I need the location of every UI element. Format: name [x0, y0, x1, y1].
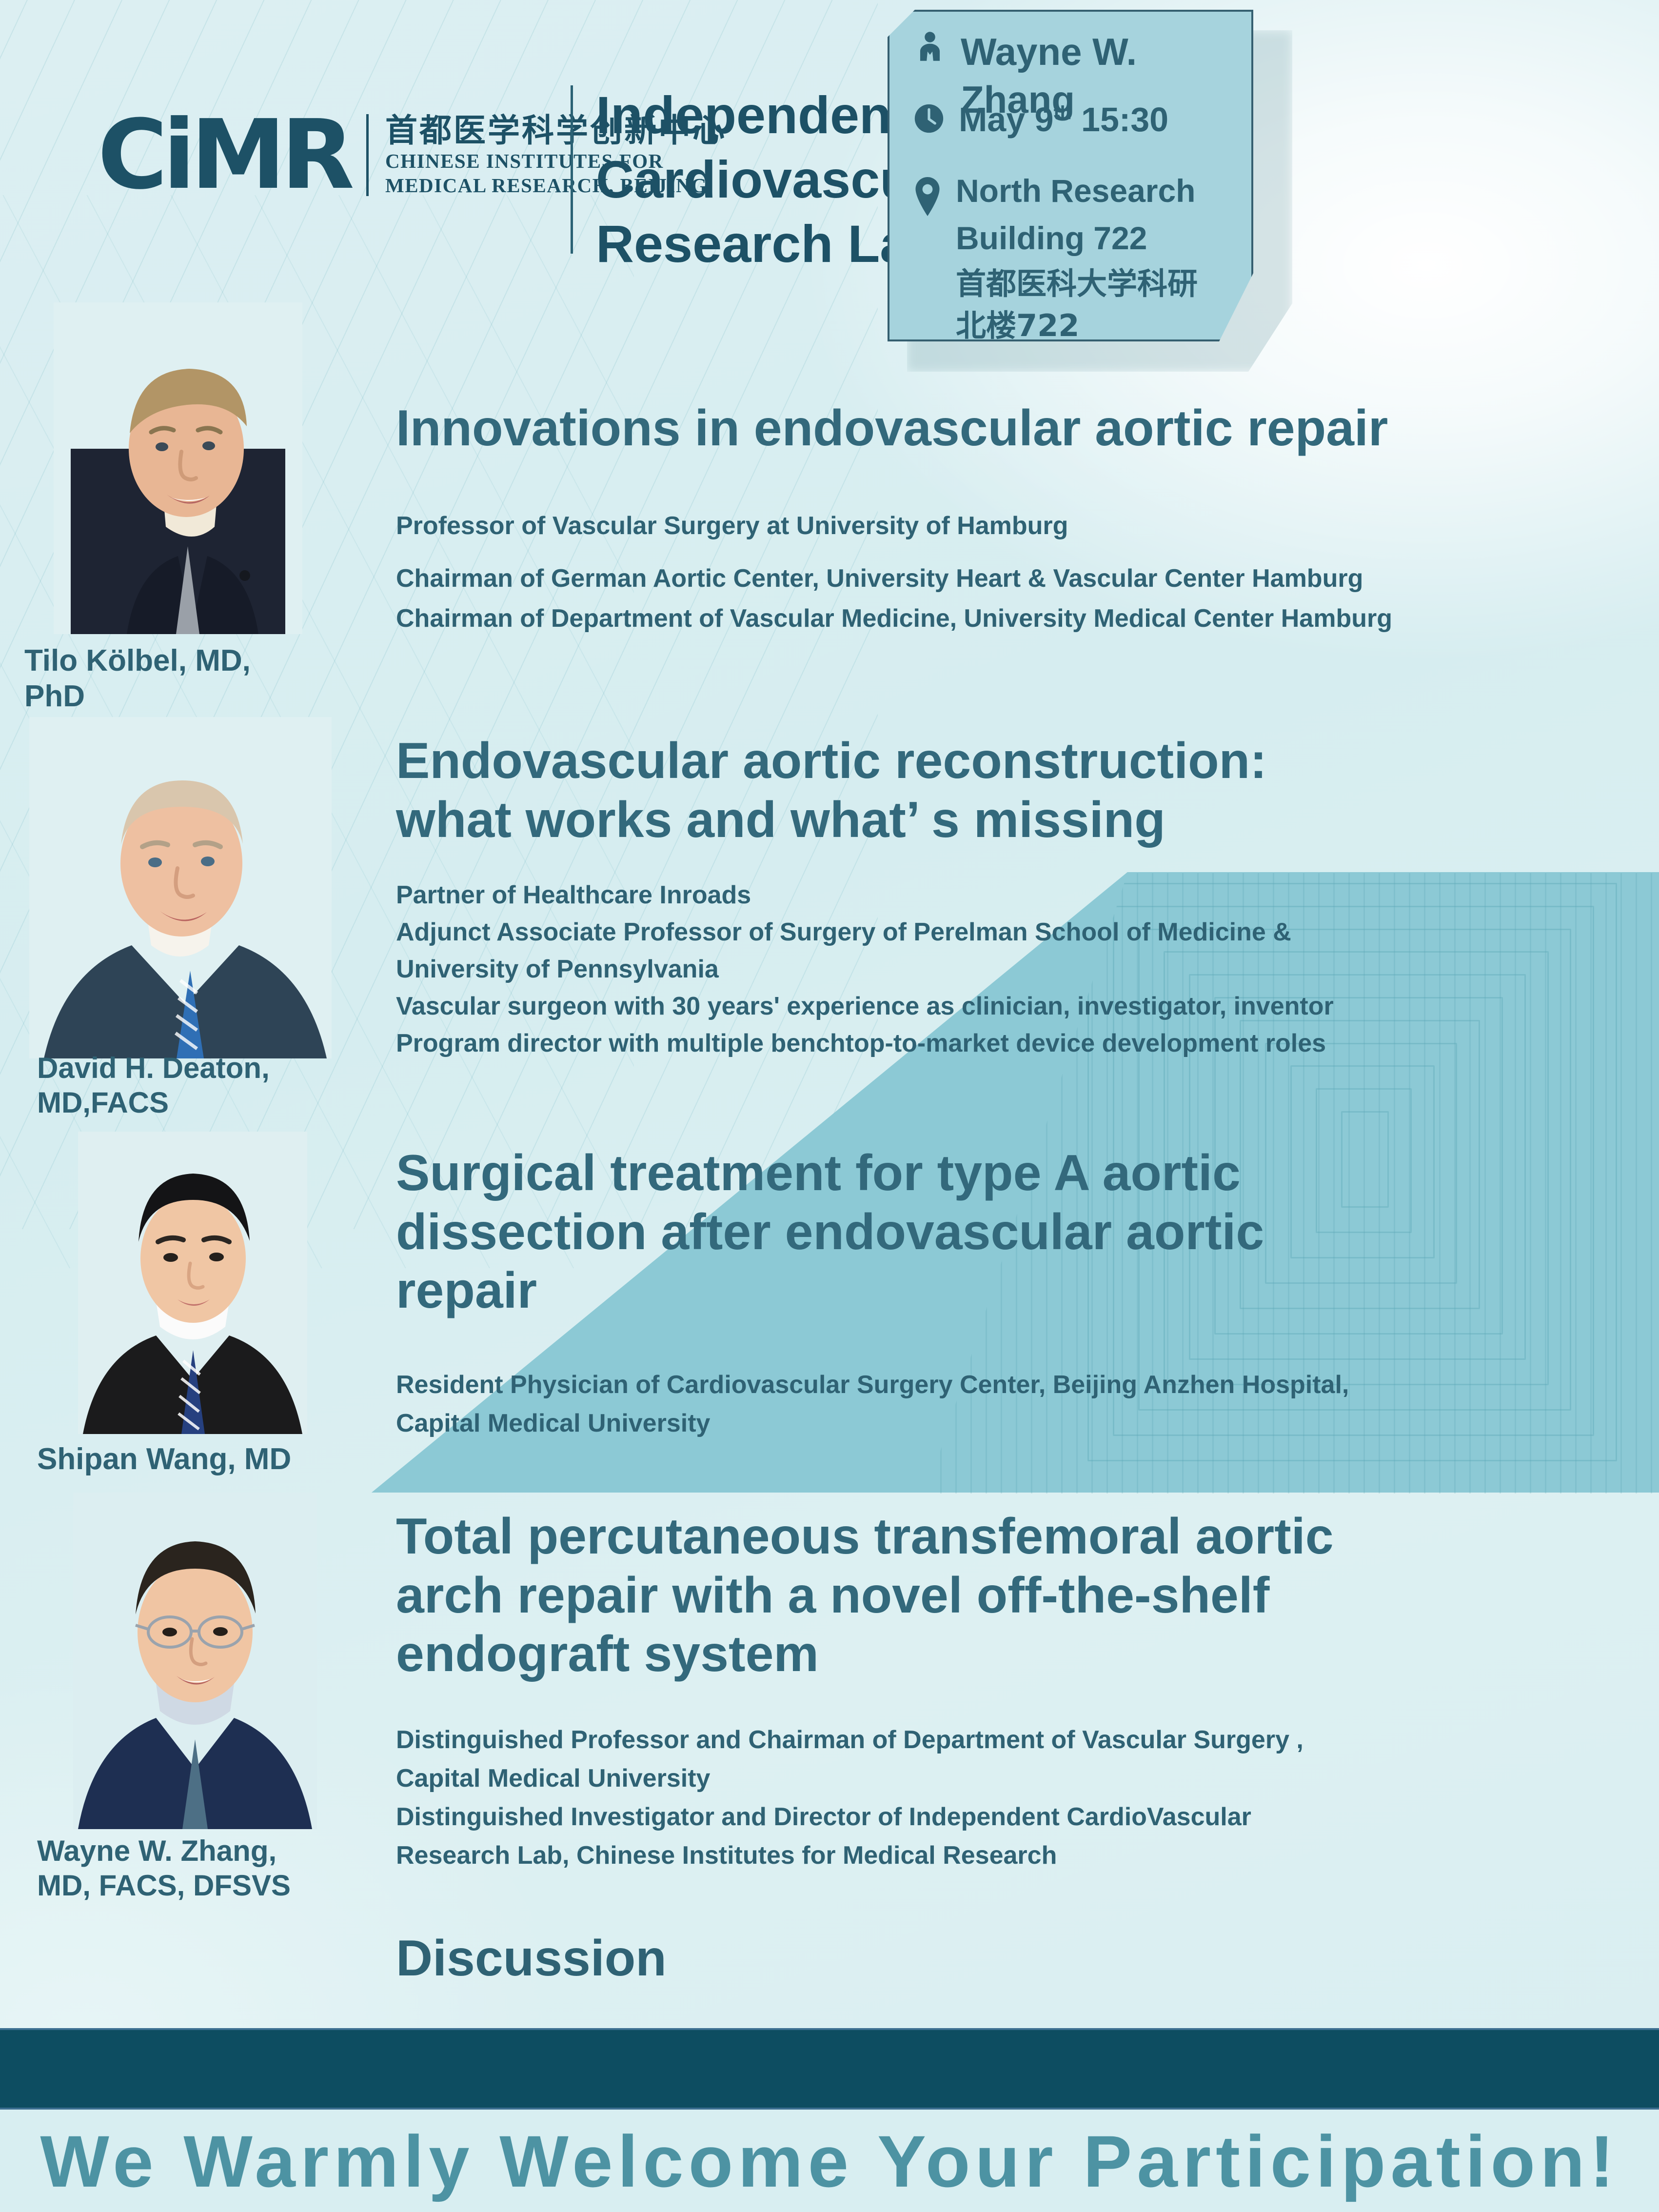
speaker-portrait-4-image — [73, 1493, 317, 1829]
info-location-row: North Research Building 722 首都医科大学科研 北楼7… — [912, 171, 1198, 344]
talk-title-4: Total percutaneous transfemoral aortic a… — [396, 1507, 1566, 1684]
talk-2-bullet-1: Partner of Healthcare Inroads — [396, 877, 1615, 914]
speaker-photo-3 — [78, 1132, 307, 1434]
info-location-text: North Research Building 722 首都医科大学科研 北楼7… — [956, 171, 1198, 344]
talk-3-title-line-3: repair — [396, 1261, 1498, 1320]
info-datetime: May 9th 15:30 — [959, 99, 1168, 141]
talk-4-bullet-2: Capital Medical University — [396, 1759, 1615, 1798]
person-tie-icon — [912, 28, 948, 69]
info-location-line-1: North Research — [956, 171, 1198, 211]
logo-divider — [366, 114, 369, 196]
discussion-heading: Discussion — [396, 1929, 981, 1988]
talk-2-title-line-2: what works and what’ s missing — [396, 791, 1600, 850]
talk-bullets-2: Partner of Healthcare Inroads Adjunct As… — [396, 877, 1615, 1062]
logo-wordmark: CiMR — [98, 112, 350, 198]
speaker-photo-1 — [54, 302, 302, 634]
speaker-photo-4 — [73, 1493, 317, 1829]
talk-4-title-line-3: endograft system — [396, 1625, 1566, 1684]
speaker-name-4: Wayne W. Zhang, MD, FACS, DFSVS — [37, 1834, 349, 1903]
talk-4-bullet-1: Distinguished Professor and Chairman of … — [396, 1721, 1615, 1759]
talk-4-title-line-2: arch repair with a novel off-the-shelf — [396, 1566, 1566, 1625]
speaker-portrait-3-image — [78, 1132, 307, 1434]
talk-bullets-4: Distinguished Professor and Chairman of … — [396, 1721, 1615, 1875]
speaker-name-2-line-2: MD,FACS — [37, 1086, 330, 1120]
talk-title-1: Innovations in endovascular aortic repai… — [396, 399, 1600, 458]
event-info-card: Wayne W. Zhang May 9th 15:30 North Resea… — [888, 10, 1253, 341]
speaker-name-1: Tilo Kölbel, MD, PhD — [24, 643, 297, 714]
info-date-suffix: th — [1054, 103, 1072, 124]
speaker-name-2: David H. Deaton, MD,FACS — [37, 1051, 330, 1120]
speaker-photo-2 — [29, 717, 332, 1058]
info-date: May 9 — [959, 100, 1054, 139]
talk-2-bullet-5: Program director with multiple benchtop-… — [396, 1025, 1615, 1062]
talk-title-2: Endovascular aortic reconstruction: what… — [396, 732, 1600, 849]
talk-1-bullet-3: Chairman of Department of Vascular Medic… — [396, 604, 1615, 633]
talk-3-title-line-1: Surgical treatment for type A aortic — [396, 1144, 1498, 1203]
clock-icon — [912, 101, 946, 138]
speaker-portrait-1-image — [54, 302, 302, 634]
speaker-name-4-line-2: MD, FACS, DFSVS — [37, 1869, 349, 1903]
talk-2-bullet-4: Vascular surgeon with 30 years' experien… — [396, 988, 1615, 1025]
talk-2-title-line-1: Endovascular aortic reconstruction: — [396, 732, 1600, 791]
talk-1-bullet-2: Chairman of German Aortic Center, Univer… — [396, 564, 1615, 593]
talk-bullets-1: Professor of Vascular Surgery at Univers… — [396, 511, 1615, 633]
talk-3-title-line-2: dissection after endovascular aortic — [396, 1203, 1498, 1262]
info-time-row: May 9th 15:30 — [912, 99, 1168, 141]
footer-bar — [0, 2028, 1659, 2110]
talk-4-bullet-3: Distinguished Investigator and Director … — [396, 1798, 1615, 1836]
talk-bullets-3: Resident Physician of Cardiovascular Sur… — [396, 1366, 1615, 1443]
info-time: 15:30 — [1081, 100, 1168, 139]
talk-3-bullet-1: Resident Physician of Cardiovascular Sur… — [396, 1366, 1615, 1404]
speaker-name-2-line-1: David H. Deaton, — [37, 1051, 330, 1086]
talk-4-bullet-4: Research Lab, Chinese Institutes for Med… — [396, 1836, 1615, 1875]
poster-canvas: CiMR 首都医学科学创新中心 CHINESE INSTITUTES FOR M… — [0, 0, 1659, 2212]
info-location-cn-line-1: 首都医科大学科研 — [956, 265, 1198, 303]
speaker-name-3: Shipan Wang, MD — [37, 1441, 330, 1477]
talk-title-3: Surgical treatment for type A aortic dis… — [396, 1144, 1498, 1320]
talk-4-title-line-1: Total percutaneous transfemoral aortic — [396, 1507, 1566, 1566]
header-divider — [571, 85, 573, 254]
map-pin-icon — [912, 177, 943, 219]
footer-welcome-text: We Warmly Welcome Your Participation! — [0, 2119, 1659, 2204]
talk-3-bullet-2: Capital Medical University — [396, 1404, 1615, 1443]
talk-1-bullet-1: Professor of Vascular Surgery at Univers… — [396, 511, 1615, 540]
speaker-name-4-line-1: Wayne W. Zhang, — [37, 1834, 349, 1869]
speaker-portrait-2-image — [29, 717, 332, 1058]
info-location-line-2: Building 722 — [956, 218, 1198, 259]
info-location-cn-line-2: 北楼722 — [956, 307, 1198, 345]
talk-2-bullet-3: University of Pennsylvania — [396, 951, 1615, 988]
talk-2-bullet-2: Adjunct Associate Professor of Surgery o… — [396, 914, 1615, 951]
